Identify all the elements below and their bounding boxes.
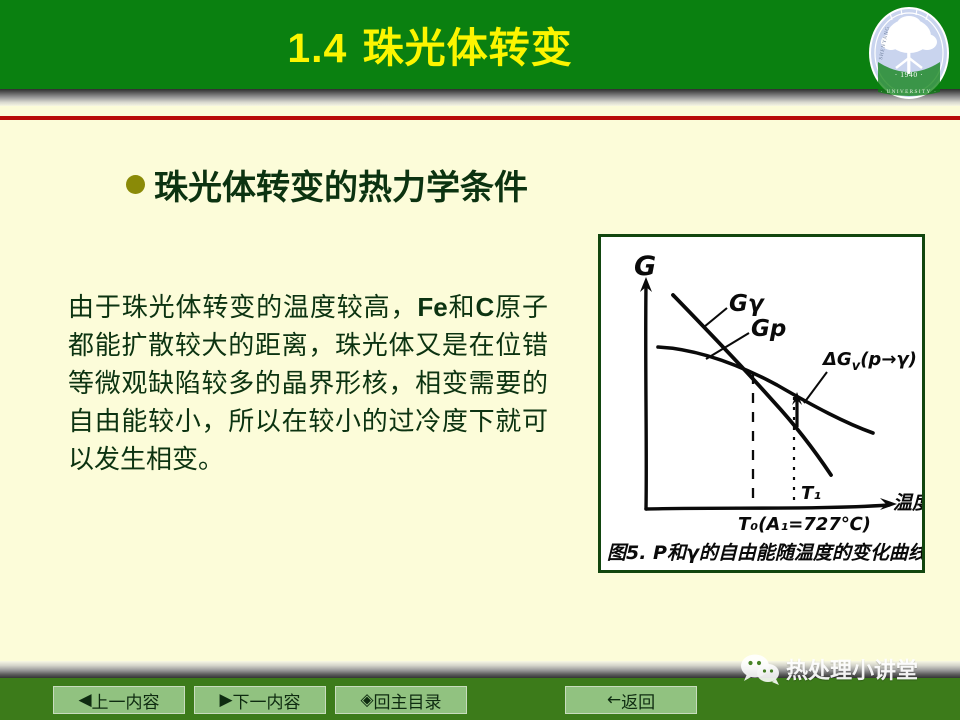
body-paragraph: 由于珠光体转变的温度较高，Fe和C原子都能扩散较大的距离，珠光体又是在位错等微观… — [68, 288, 548, 479]
back-arrow-icon: ← — [607, 690, 621, 710]
body-paragraph-run-2: 和 — [448, 293, 476, 323]
svg-text:· UNIVERSITY ·: · UNIVERSITY · — [881, 89, 938, 95]
body-paragraph-run-1: Fe — [417, 292, 447, 322]
g-gamma-label: Gγ — [729, 291, 766, 317]
figure-caption: 图5. P和γ的自由能随温度的变化曲线 — [607, 542, 922, 564]
watermark: 热处理小讲堂 — [740, 653, 918, 685]
next-button[interactable]: ▶下一内容 — [194, 686, 326, 714]
back-button[interactable]: ←返回 — [565, 686, 697, 714]
university-seal-logo: · 1940 · · UNIVERSITY · SHENYANG — [868, 6, 950, 100]
diamond-icon: ◈ — [360, 690, 373, 710]
g-p-label: Gp — [751, 316, 786, 342]
bullet-heading: 珠光体转变的热力学条件 — [126, 160, 528, 209]
figure-panel: G Gγ Gp ΔGv(p→γ) 温度℃ T₁ T₀(A₁=727℃) 图5. … — [598, 234, 925, 573]
bullet-dot-icon — [126, 175, 145, 194]
y-axis-label: G — [634, 251, 656, 282]
prev-arrow-icon: ◀ — [78, 690, 91, 710]
header-shadow-gradient — [0, 89, 960, 106]
bullet-heading-label: 珠光体转变的热力学条件 — [154, 160, 528, 209]
slide-canvas: 1.4 珠光体转变 · 1940 · · UNIVERSITY · SHENYA… — [0, 0, 960, 720]
page-title-text: 珠光体转变 — [363, 24, 573, 72]
g-gamma-leader-line — [704, 308, 727, 327]
body-paragraph-run-0: 由于珠光体转变的温度较高， — [68, 293, 417, 323]
watermark-label: 热处理小讲堂 — [786, 653, 918, 685]
free-energy-diagram: G Gγ Gp ΔGv(p→γ) 温度℃ T₁ T₀(A₁=727℃) 图5. … — [601, 237, 922, 570]
x-axis-line — [646, 505, 889, 509]
x-axis-label: 温度℃ — [893, 492, 922, 514]
next-arrow-icon: ▶ — [219, 690, 232, 710]
body-paragraph-run-3: C — [475, 292, 494, 322]
prev-button-label: 上一内容 — [92, 688, 160, 713]
t0-label: T₀(A₁=727℃) — [738, 514, 871, 535]
page-title-number: 1.4 — [287, 25, 347, 71]
wechat-icon — [740, 653, 780, 685]
t1-label: T₁ — [801, 483, 821, 504]
delta-gv-label: ΔGv(p→γ) — [821, 349, 917, 374]
back-button-label: 返回 — [621, 688, 655, 713]
main-menu-button-label: 回主目录 — [374, 688, 442, 713]
next-button-label: 下一内容 — [233, 688, 301, 713]
header-red-rule — [0, 116, 960, 120]
main-menu-button[interactable]: ◈回主目录 — [335, 686, 467, 714]
delta-g-leader-line — [804, 372, 827, 403]
y-axis-line — [646, 285, 647, 509]
prev-button[interactable]: ◀上一内容 — [53, 686, 185, 714]
logo-year: · 1940 · — [895, 70, 924, 79]
page-title: 1.4 珠光体转变 — [0, 14, 860, 74]
